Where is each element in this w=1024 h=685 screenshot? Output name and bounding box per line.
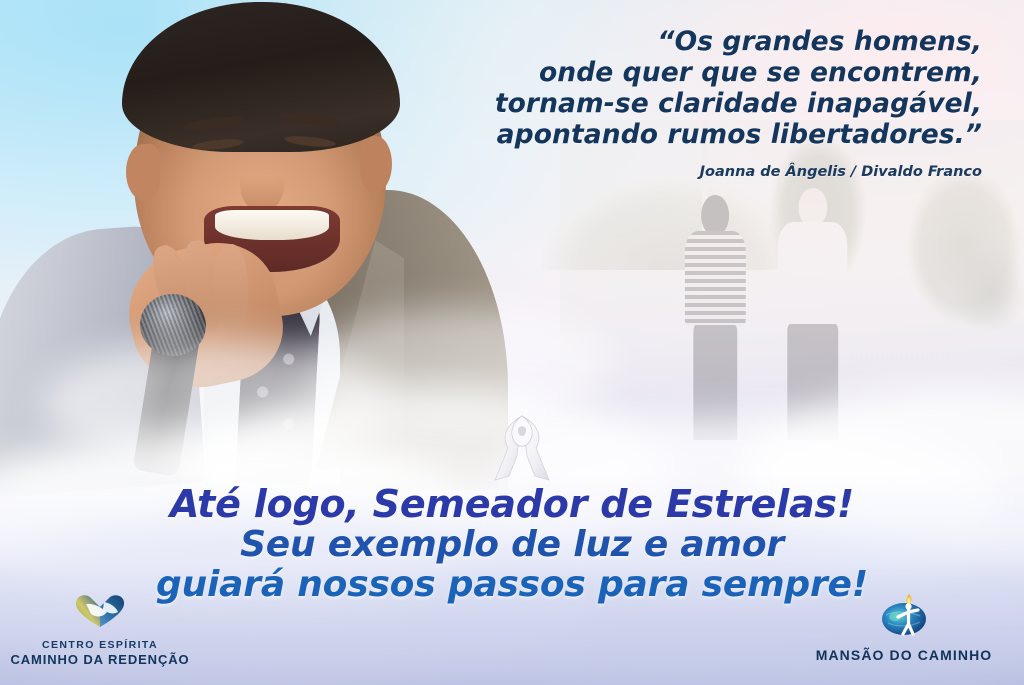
logo-centro-espirita: CENTRO ESPÍRITA CAMINHO DA REDENÇÃO [0,591,200,667]
quote-block: “Os grandes homens, onde quer que se enc… [422,26,982,180]
portrait-divaldo-franco [8,0,478,464]
logo-mansao-do-caminho: MANSÃO DO CAMINHO [796,593,1012,663]
background-person-white-shirt [778,188,848,436]
logo-left-line-1: CENTRO ESPÍRITA [0,639,200,652]
quote-attribution: Joanna de Ângelis / Divaldo Franco [422,164,982,180]
headline-line-1: Até logo, Semeador de Estrelas! [0,484,1024,524]
memorial-poster: “Os grandes homens, onde quer que se enc… [0,0,1024,685]
quote-line-1: “Os grandes homens, [422,26,982,57]
heart-hands-icon [0,591,200,634]
quote-line-4: apontando rumos libertadores.” [422,119,982,150]
quote-line-3: tornam-se claridade inapagável, [422,88,982,119]
headline-block: Até logo, Semeador de Estrelas! Seu exem… [0,484,1024,605]
globe-figure-flame-icon [796,593,1012,642]
logo-left-line-2: CAMINHO DA REDENÇÃO [0,652,200,667]
hair [122,2,400,152]
logo-right-line-1: MANSÃO DO CAMINHO [796,647,1012,663]
headline-line-2: Seu exemplo de luz e amor [0,526,1024,564]
quote-line-2: onde quer que se encontrem, [422,57,982,88]
white-ribbon-icon [487,408,557,486]
background-person-striped-shirt [685,195,745,435]
